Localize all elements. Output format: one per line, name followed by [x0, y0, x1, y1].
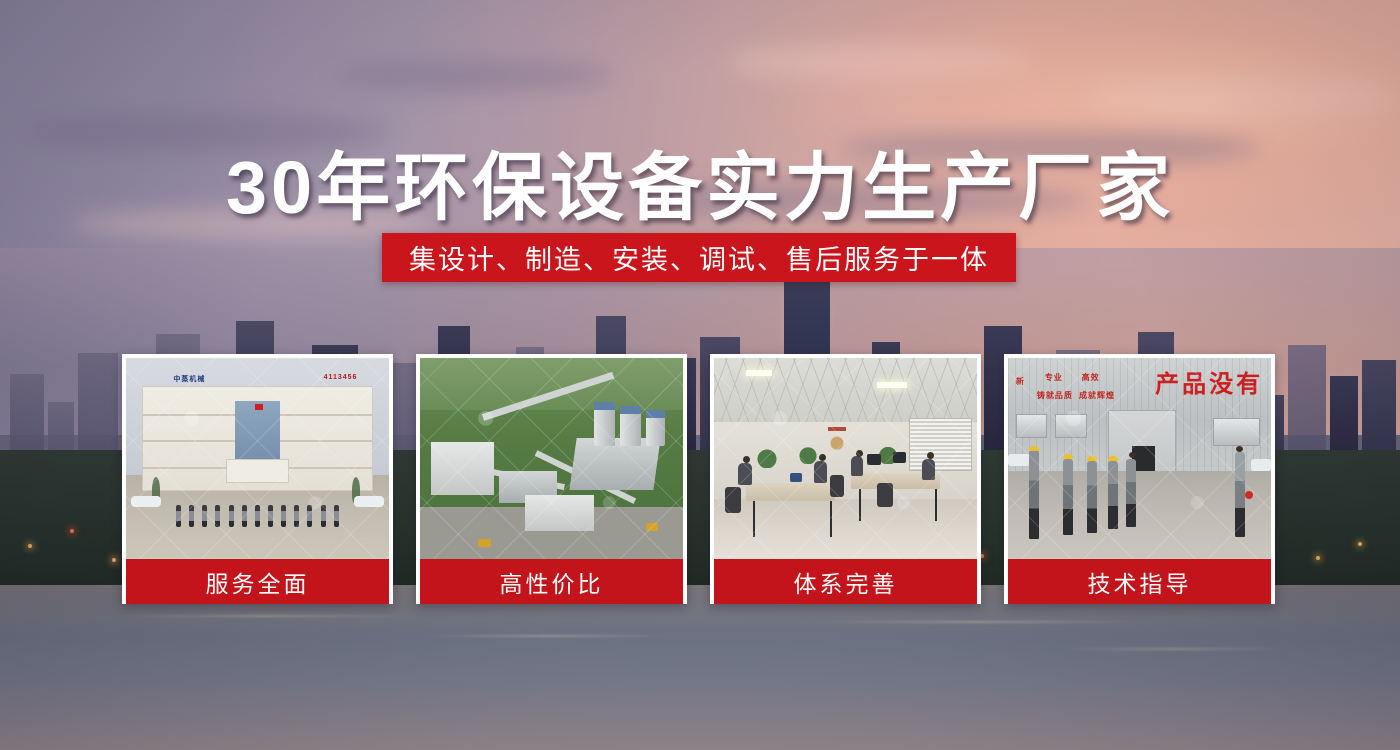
card-caption: 技术指导: [1008, 559, 1271, 604]
river-water: [0, 585, 1400, 750]
photo-plant-aerial: [420, 358, 683, 559]
building-signage: 中蒸机械: [173, 374, 205, 384]
building-phone-number: 4113456: [324, 374, 358, 381]
photo-company-building: 中蒸机械 4113456: [126, 358, 389, 559]
card-caption: 高性价比: [420, 559, 683, 604]
card-caption: 服务全面: [126, 559, 389, 604]
feature-card-service[interactable]: 中蒸机械 4113456 服务全面: [122, 354, 393, 604]
card-caption: 体系完善: [714, 559, 977, 604]
wall-slogan-new: 新: [1016, 376, 1025, 387]
factory-wall-text: 产品没有: [1155, 364, 1263, 399]
feature-card-row: 中蒸机械 4113456 服务全面: [122, 354, 1277, 604]
wall-slogan-quality: 铸就品质: [1037, 390, 1073, 401]
feature-card-value[interactable]: 高性价比: [416, 354, 687, 604]
photo-workers-factory: 产品没有 新 专业 高效 铸就品质 成就辉煌: [1008, 358, 1271, 559]
wall-slogan-glory: 成就辉煌: [1079, 390, 1115, 401]
photo-office-interior: [714, 358, 977, 559]
feature-card-system[interactable]: 体系完善: [710, 354, 981, 604]
subtitle-text: 集设计、制造、安装、调试、售后服务于一体: [409, 238, 989, 277]
wall-slogan-pro: 专业: [1045, 372, 1063, 383]
page-title: 30年环保设备实力生产厂家: [0, 128, 1400, 235]
wall-slogan-eff: 高效: [1082, 372, 1100, 383]
subtitle-bar: 集设计、制造、安装、调试、售后服务于一体: [382, 233, 1016, 282]
promo-banner: 30年环保设备实力生产厂家 集设计、制造、安装、调试、售后服务于一体 中蒸机械 …: [0, 0, 1400, 750]
feature-card-guidance[interactable]: 产品没有 新 专业 高效 铸就品质 成就辉煌: [1004, 354, 1275, 604]
